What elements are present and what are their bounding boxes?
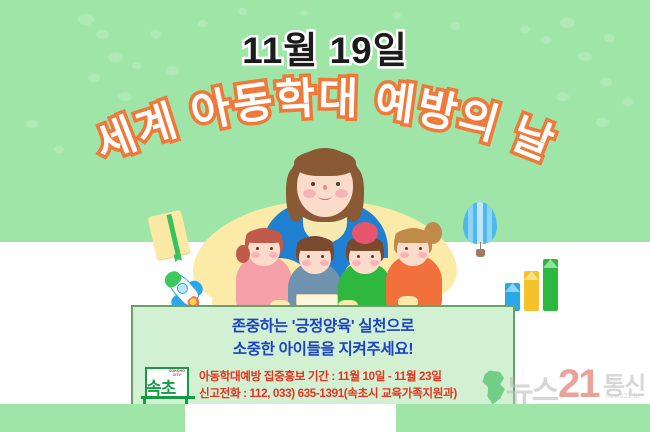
pencil-green: [543, 259, 558, 311]
pencil-yellow: [524, 271, 539, 311]
sokcho-city-logo: SOKCHOCITY 속초: [141, 365, 195, 405]
adult-mouth: [318, 192, 332, 200]
page-title-arch: 세계 아동학대 예방의 날 세계 아동학대 예방의 날: [0, 78, 650, 183]
child-pink-cheek-left: [251, 252, 260, 258]
child-orange-eye-left: [405, 247, 408, 250]
adult-cheek-left: [303, 189, 316, 198]
child-orange-cheek-left: [400, 252, 409, 258]
watermark-subtext: news21.kr: [606, 393, 641, 400]
adult-nose: [323, 185, 327, 190]
watermark-text-1: 뉴스: [506, 366, 557, 410]
message-line-1: 존중하는 '긍정양육' 실천으로: [133, 316, 513, 337]
bottom-green-strip-left: [0, 404, 185, 432]
page-title-date: 11월 19일: [0, 20, 650, 74]
background-blob: [300, 10, 308, 16]
poster-canvas: 11월 19일 세계 아동학대 예방의 날 세계 아동학대 예방의 날 존중하는…: [0, 0, 650, 432]
background-blob: [392, 12, 401, 19]
child-orange-eye-right: [419, 247, 422, 250]
child-blue-eye-right: [321, 255, 324, 258]
info-line-2: 신고전화 : 112, 033) 635-1391(속초시 교육가족지원과): [199, 386, 507, 403]
watermark: 뉴스 21 통신 news21.kr: [470, 362, 650, 418]
child-blue-eye-left: [307, 255, 310, 258]
campaign-info: 아동학대예방 집중홍보 기간 : 11월 10일 - 11월 23일 신고전화 …: [199, 369, 507, 402]
child-pink-cheek-right: [269, 252, 278, 258]
child-orange-bun: [424, 222, 442, 244]
arch-title-svg: 세계 아동학대 예방의 날 세계 아동학대 예방의 날: [0, 78, 650, 183]
child-green-cheek-left: [352, 260, 361, 266]
child-green-eye-left: [357, 255, 360, 258]
background-blob: [238, 8, 247, 15]
child-green-eye-right: [371, 255, 374, 258]
child-pink-fringe: [246, 229, 282, 243]
child-pink-pigtail: [236, 245, 250, 263]
child-pink-eye-right: [270, 247, 273, 250]
child-orange-cheek-right: [418, 252, 427, 258]
child-blue-cheek-right: [320, 260, 329, 266]
child-blue-cheek-left: [302, 260, 311, 266]
info-line-1: 아동학대예방 집중홍보 기간 : 11월 10일 - 11월 23일: [199, 369, 507, 386]
adult-cheek-right: [335, 189, 348, 198]
watermark-text-21: 21: [558, 362, 599, 407]
child-pink-eye-left: [256, 247, 259, 250]
child-green-cheek-right: [370, 260, 379, 266]
arch-title-fill: 세계 아동학대 예방의 날: [89, 75, 561, 170]
message-line-2: 소중한 아이들을 지켜주세요!: [133, 339, 513, 360]
child-blue-fringe: [297, 237, 333, 251]
message-panel: 존중하는 '긍정양육' 실천으로 소중한 아이들을 지켜주세요! SOKCHOC…: [131, 305, 515, 408]
child-green-balloon-hat: [352, 222, 378, 244]
pencils-icon: [505, 255, 561, 311]
hot-air-balloon-icon: [463, 202, 497, 260]
